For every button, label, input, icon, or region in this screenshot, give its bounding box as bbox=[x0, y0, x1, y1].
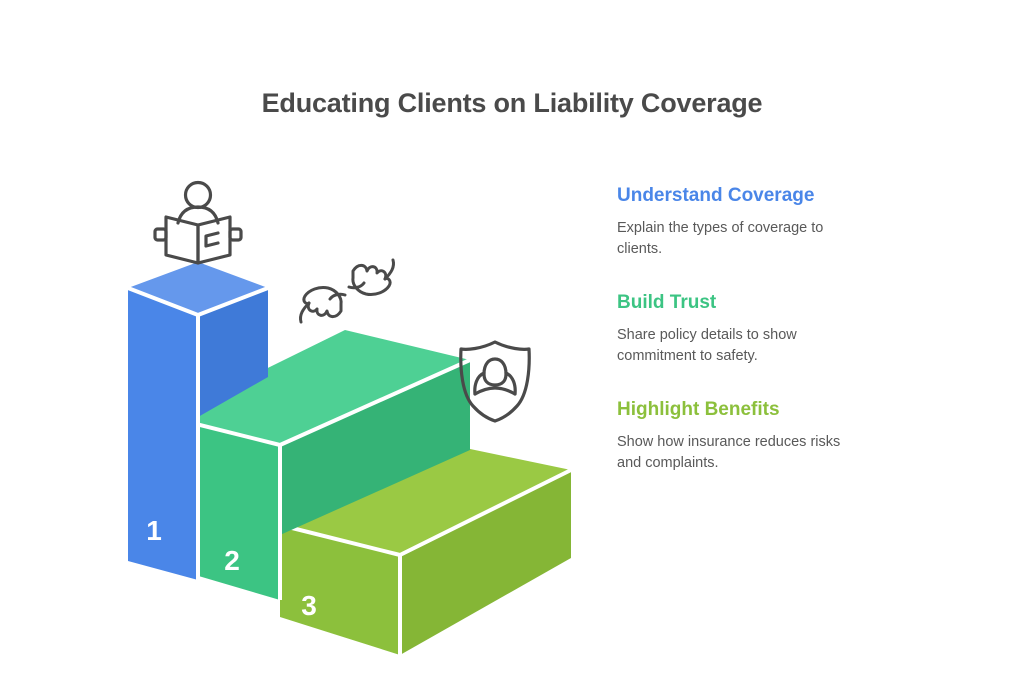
step-2-heading: Build Trust bbox=[617, 292, 907, 314]
handshake-icon bbox=[300, 260, 393, 322]
shield-person-shoulders bbox=[475, 388, 515, 394]
page-title: Educating Clients on Liability Coverage bbox=[0, 88, 1024, 119]
reader-head bbox=[186, 183, 211, 208]
shield-outline bbox=[461, 342, 529, 421]
arm-upper-right bbox=[385, 260, 394, 279]
book-right-clasp bbox=[230, 229, 241, 240]
shield-person-icon bbox=[461, 342, 529, 421]
shield-person-head bbox=[484, 359, 506, 385]
isometric-staircase-diagram: 1 2 3 bbox=[80, 155, 600, 665]
step-text-block-2: Build Trust Share policy details to show… bbox=[617, 292, 907, 367]
person-reading-book-icon bbox=[155, 183, 241, 264]
step-2-body: Share policy details to show commitment … bbox=[617, 325, 867, 367]
infographic-root: Educating Clients on Liability Coverage bbox=[0, 0, 1024, 675]
step-3-number: 3 bbox=[301, 590, 317, 621]
step-text-block-3: Highlight Benefits Show how insurance re… bbox=[617, 399, 907, 474]
step-1-body: Explain the types of coverage to clients… bbox=[617, 218, 867, 260]
step-text-block-1: Understand Coverage Explain the types of… bbox=[617, 185, 907, 260]
step-1-number: 1 bbox=[146, 515, 162, 546]
step-3-heading: Highlight Benefits bbox=[617, 399, 907, 421]
steps-text-column: Understand Coverage Explain the types of… bbox=[617, 185, 907, 474]
fingers-cross-1 bbox=[349, 283, 364, 288]
book-left-clasp bbox=[155, 229, 166, 240]
staircase-svg: 1 2 3 bbox=[80, 155, 600, 665]
arm-lower-left bbox=[300, 303, 309, 322]
book-right-page bbox=[198, 217, 230, 263]
step-2-number: 2 bbox=[224, 545, 240, 576]
step-1-heading: Understand Coverage bbox=[617, 185, 907, 207]
step-1-front-face bbox=[128, 288, 198, 580]
fingers-cross-2 bbox=[330, 294, 345, 299]
book-left-page bbox=[166, 217, 198, 263]
book-text-line bbox=[206, 233, 218, 246]
step-3-body: Show how insurance reduces risks and com… bbox=[617, 432, 867, 474]
